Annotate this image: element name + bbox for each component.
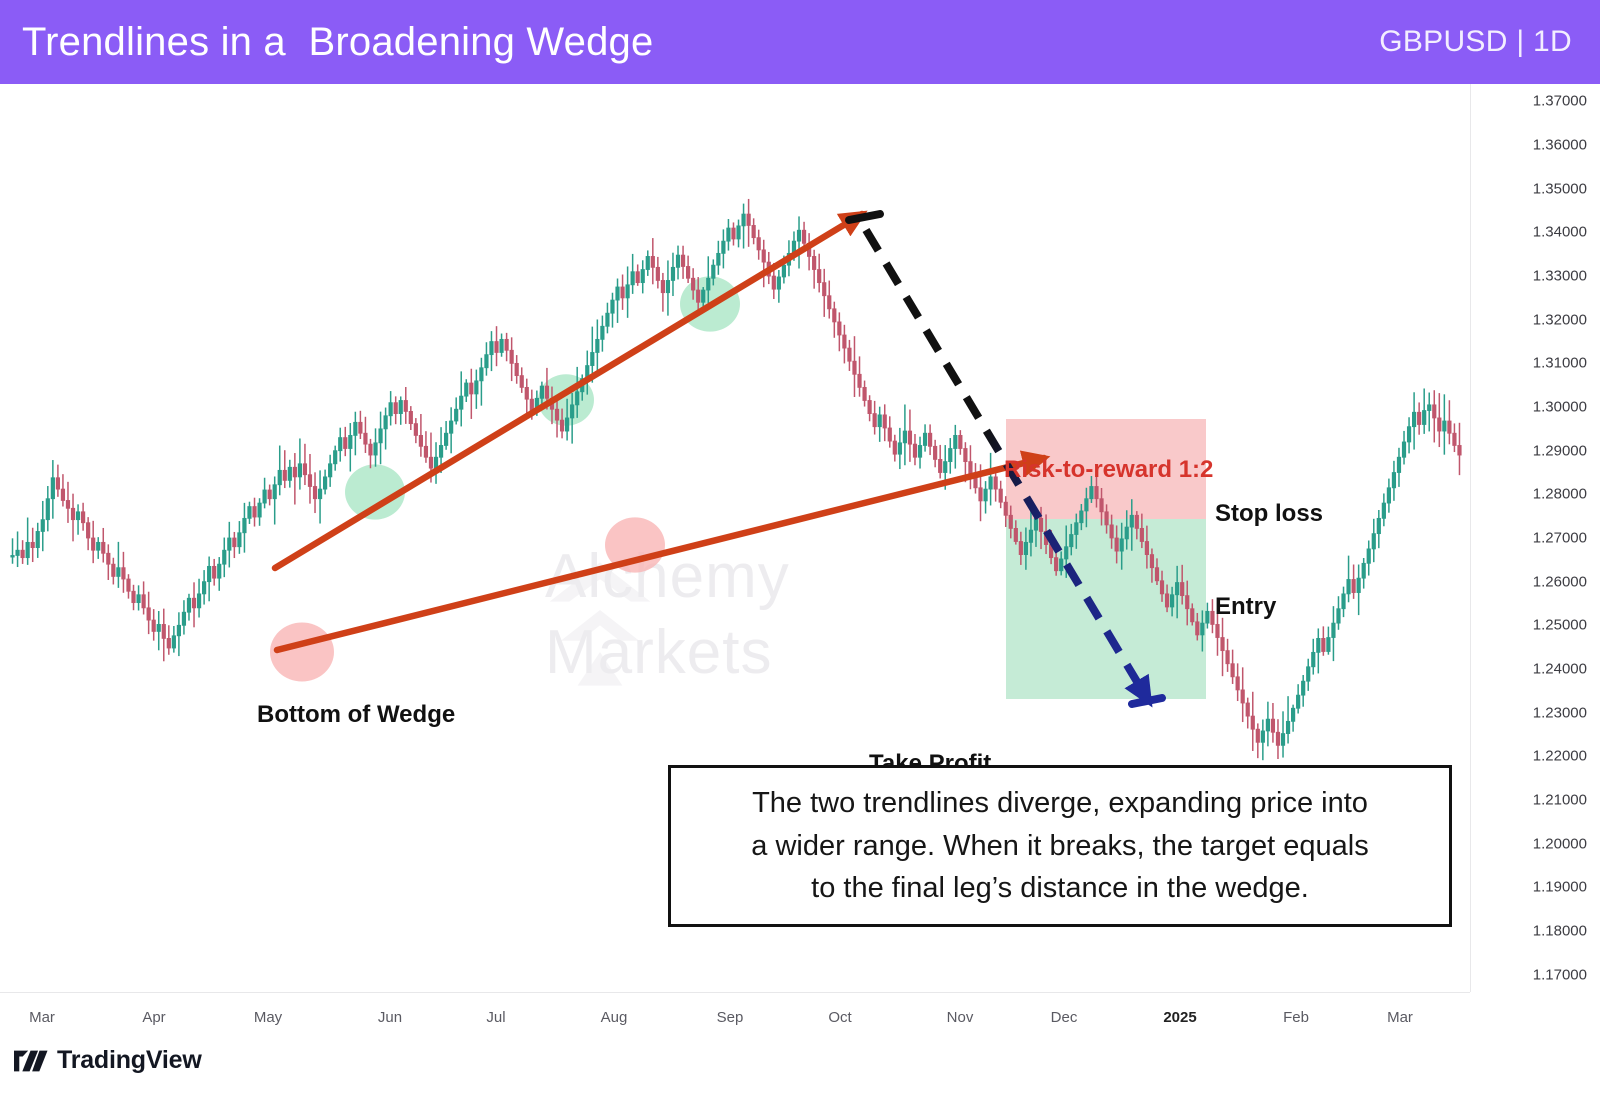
candle-body [591, 352, 594, 365]
candle-body [253, 507, 256, 517]
candle-body [318, 489, 321, 499]
candle-body [429, 457, 432, 468]
chart-header-bar: Trendlines in a Broadening Wedge GBPUSD … [0, 0, 1600, 84]
time-tick-label: Nov [947, 1009, 974, 1026]
candle-body [1251, 716, 1254, 729]
candle-body [631, 272, 634, 285]
candle-body [651, 256, 654, 267]
price-tick-label: 1.28000 [1533, 486, 1587, 503]
candle-body [182, 612, 185, 625]
candle-body [278, 470, 281, 484]
candle-body [1135, 515, 1138, 528]
candle-body [490, 342, 493, 355]
candle-body [202, 582, 205, 594]
candle-body [26, 542, 29, 557]
candle-body [1387, 488, 1390, 503]
candle-body [97, 542, 100, 550]
candle-body [1029, 530, 1032, 542]
candle-body [238, 533, 241, 547]
candle-body [1120, 539, 1123, 551]
candle-body [1402, 442, 1405, 457]
candle-body [596, 339, 599, 352]
candle-body [86, 523, 89, 538]
price-tick-label: 1.24000 [1533, 660, 1587, 677]
price-tick-label: 1.30000 [1533, 399, 1587, 416]
price-tick-label: 1.37000 [1533, 93, 1587, 110]
candle-body [465, 383, 468, 396]
price-tick-label: 1.26000 [1533, 573, 1587, 590]
candle-body [1453, 433, 1456, 445]
candle-body [339, 438, 342, 451]
price-axis[interactable]: 1.370001.360001.350001.340001.330001.320… [1470, 84, 1600, 992]
candle-body [1291, 708, 1294, 721]
candle-body [1271, 719, 1274, 732]
candle-body [228, 538, 231, 550]
candle-body [1438, 418, 1441, 431]
candle-body [1206, 611, 1209, 623]
candle-body [646, 256, 649, 269]
price-tick-label: 1.23000 [1533, 704, 1587, 721]
candle-body [1070, 535, 1073, 547]
candle-body [81, 512, 84, 523]
candle-body [626, 285, 629, 298]
risk-reward-label: Risk-to-reward 1:2 [1004, 458, 1213, 482]
candle-body [676, 255, 679, 267]
candle-body [823, 283, 826, 296]
candle-body [218, 564, 221, 578]
screenshot-root: Trendlines in a Broadening Wedge GBPUSD … [0, 0, 1600, 1095]
candle-body [858, 374, 861, 387]
candle-body [1186, 596, 1189, 609]
note-line-3: to the final leg’s distance in the wedge… [811, 867, 1309, 910]
time-tick-label: Mar [29, 1009, 55, 1026]
candle-body [187, 598, 190, 612]
candle-body [263, 490, 266, 503]
candle-body [152, 620, 155, 631]
candle-body [853, 361, 856, 374]
candle-body [1165, 594, 1168, 607]
candle-body [1085, 499, 1088, 511]
candle-body [944, 462, 947, 473]
candle-body [470, 383, 473, 394]
candle-body [16, 550, 19, 555]
time-tick-label: Mar [1387, 1009, 1413, 1026]
candle-body [1236, 677, 1239, 690]
candle-body [601, 326, 604, 339]
candle-body [1261, 731, 1264, 742]
candle-body [76, 512, 79, 520]
candle-body [1372, 534, 1375, 549]
candle-body [999, 489, 1002, 502]
candle-body [1019, 541, 1022, 554]
candle-body [570, 405, 573, 418]
candle-body [157, 624, 160, 631]
candle-body [923, 433, 926, 445]
upper-trendline [275, 214, 862, 568]
candle-body [611, 300, 614, 313]
candle-body [1201, 623, 1204, 635]
candle-body [903, 431, 906, 443]
time-tick-label: Jul [486, 1009, 505, 1026]
candle-body [1246, 703, 1249, 716]
price-tick-label: 1.31000 [1533, 355, 1587, 372]
candle-body [1105, 512, 1108, 525]
candle-body [1407, 427, 1410, 442]
candle-body [984, 489, 987, 501]
candle-body [1125, 527, 1128, 539]
candle-body [1150, 555, 1153, 568]
candle-body [424, 446, 427, 457]
candle-body [1377, 518, 1380, 533]
candle-body [696, 290, 699, 302]
candle-body [1191, 609, 1194, 622]
candle-body [56, 478, 59, 489]
time-tick-label: May [254, 1009, 282, 1026]
candle-body [454, 409, 457, 421]
candle-body [379, 429, 382, 443]
candle-body [1392, 473, 1395, 488]
candle-body [661, 280, 664, 292]
candle-body [273, 485, 276, 499]
candle-body [737, 226, 740, 239]
candle-body [1367, 549, 1370, 563]
candle-body [938, 459, 941, 472]
candle-body [344, 438, 347, 449]
stop-loss-label: Stop loss [1215, 502, 1323, 526]
candle-body [606, 313, 609, 326]
candle-body [1196, 622, 1199, 635]
candle-body [1065, 547, 1068, 559]
candle-body [1221, 638, 1224, 651]
candle-body [444, 433, 447, 445]
candle-body [1145, 541, 1148, 554]
candle-body [328, 464, 331, 477]
candle-body [515, 363, 518, 375]
time-tick-label: Oct [828, 1009, 851, 1026]
candle-body [197, 594, 200, 608]
candle-body [1216, 624, 1219, 637]
candle-body [510, 350, 513, 363]
candle-body [1357, 578, 1360, 592]
candle-body [1110, 525, 1113, 538]
candle-body [1352, 579, 1355, 592]
candle-body [313, 486, 316, 498]
candle-body [797, 230, 800, 241]
time-tick-label: Feb [1283, 1009, 1309, 1026]
candle-body [777, 277, 780, 289]
candle-body [1312, 652, 1315, 666]
candle-body [21, 550, 24, 557]
candle-body [812, 256, 815, 269]
candle-body [772, 276, 775, 289]
candle-body [1412, 412, 1415, 426]
candle-body [258, 503, 261, 517]
candle-body [762, 250, 765, 262]
time-tick-label: 2025 [1163, 1009, 1196, 1026]
candle-body [969, 462, 972, 475]
candle-body [994, 477, 997, 489]
candle-body [525, 387, 528, 399]
candle-body [268, 490, 271, 499]
candle-body [1059, 559, 1062, 571]
candle-body [1256, 729, 1259, 742]
candle-body [555, 409, 558, 420]
candle-body [66, 500, 69, 508]
candle-body [888, 428, 891, 441]
candle-body [1417, 412, 1420, 424]
candle-body [384, 416, 387, 429]
candle-body [1286, 721, 1289, 733]
candle-body [399, 400, 402, 413]
candle-body [747, 214, 750, 225]
candle-body [51, 478, 54, 499]
candle-body [1382, 503, 1385, 518]
candle-body [656, 267, 659, 280]
candle-body [142, 595, 145, 608]
candle-body [913, 444, 916, 457]
price-tick-label: 1.17000 [1533, 966, 1587, 983]
price-tick-label: 1.32000 [1533, 311, 1587, 328]
candle-body [207, 566, 210, 581]
candle-body [36, 531, 39, 547]
candle-body [989, 477, 992, 489]
candle-body [1004, 502, 1007, 515]
candle-body [838, 322, 841, 335]
candle-body [1342, 594, 1345, 609]
candle-body [616, 287, 619, 300]
candle-body [949, 449, 952, 462]
candle-body [409, 411, 412, 423]
candle-body [681, 255, 684, 266]
candle-body [41, 520, 44, 532]
candle-body [712, 265, 715, 278]
candle-body [863, 387, 866, 400]
candle-body [722, 241, 725, 253]
candle-body [303, 464, 306, 475]
candle-body [354, 422, 357, 435]
candle-body [1231, 664, 1234, 677]
candle-body [112, 564, 115, 576]
candle-body [1281, 734, 1284, 746]
candle-body [117, 568, 120, 577]
price-tick-label: 1.36000 [1533, 137, 1587, 154]
candle-body [1160, 581, 1163, 594]
candle-body [843, 335, 846, 348]
candle-body [964, 449, 967, 462]
candle-body [893, 441, 896, 454]
candle-body [500, 339, 503, 352]
candle-body [1054, 558, 1057, 571]
candle-body [1322, 638, 1325, 651]
candle-body [742, 214, 745, 226]
candle-body [802, 230, 805, 243]
candle-body [817, 270, 820, 283]
candle-body [898, 443, 901, 454]
candle-body [137, 595, 140, 603]
candle-body [918, 445, 921, 457]
time-tick-label: Sep [717, 1009, 744, 1026]
candle-body [1443, 421, 1446, 431]
price-tick-label: 1.35000 [1533, 180, 1587, 197]
candle-body [308, 475, 311, 487]
candle-body [212, 566, 215, 578]
candle-body [439, 445, 442, 457]
candle-body [1241, 690, 1244, 703]
page-title: Trendlines in a Broadening Wedge [22, 22, 653, 62]
candle-body [540, 386, 543, 398]
candle-body [107, 553, 110, 564]
candle-body [288, 467, 291, 480]
candle-body [727, 228, 730, 241]
candle-body [848, 348, 851, 361]
candle-body [1307, 667, 1310, 681]
candle-body [298, 464, 301, 477]
candle-body [333, 451, 336, 464]
candle-body [565, 418, 568, 431]
candle-body [1433, 405, 1436, 418]
candle-body [1332, 623, 1335, 637]
candle-body [671, 267, 674, 280]
candle-body [1458, 445, 1461, 455]
candle-body [1211, 611, 1214, 624]
candle-body [122, 568, 125, 579]
candle-body [1014, 528, 1017, 541]
candle-body [1276, 732, 1279, 745]
candle-body [1009, 515, 1012, 528]
candle-body [868, 400, 871, 413]
candle-body [1039, 518, 1042, 531]
candle-body [1428, 405, 1431, 411]
candle-body [979, 488, 982, 501]
candle-body [495, 342, 498, 353]
candle-body [717, 253, 720, 265]
candle-body [46, 499, 49, 520]
candle-body [621, 287, 624, 298]
candle-body [147, 608, 150, 620]
candle-body [364, 433, 367, 444]
candle-body [132, 591, 135, 602]
time-tick-label: Jun [378, 1009, 402, 1026]
explanation-note-box: The two trendlines diverge, expanding pr… [668, 765, 1452, 927]
candle-body [177, 625, 180, 635]
candle-body [782, 265, 785, 277]
candle-body [283, 470, 286, 480]
time-axis[interactable]: MarAprMayJunJulAugSepOctNovDec2025FebMar [0, 992, 1470, 1041]
candle-body [1317, 638, 1320, 652]
candle-body [702, 290, 705, 302]
candle-body [11, 555, 14, 557]
candle-body [323, 477, 326, 489]
candle-body [1175, 583, 1178, 595]
candle-body [167, 638, 170, 648]
candle-body [954, 435, 957, 448]
tradingview-attribution: TradingView [14, 1048, 202, 1073]
candle-body [560, 420, 563, 431]
candle-body [127, 579, 130, 591]
candle-body [449, 421, 452, 433]
price-tick-label: 1.21000 [1533, 791, 1587, 808]
candle-body [233, 538, 236, 547]
candle-body [414, 424, 417, 436]
candle-body [91, 538, 94, 550]
candle-body [1115, 538, 1118, 551]
candle-body [691, 278, 694, 290]
candle-body [1296, 695, 1299, 708]
candle-body [1100, 499, 1103, 512]
price-tick-label: 1.27000 [1533, 530, 1587, 547]
candle-body [636, 272, 639, 283]
candle-body [394, 403, 397, 414]
candle-body [883, 415, 886, 428]
candle-body [1226, 651, 1229, 664]
candle-body [520, 376, 523, 388]
candle-body [641, 270, 644, 283]
candle-body [1034, 518, 1037, 530]
candle-body [1301, 681, 1304, 695]
candle-body [1140, 528, 1143, 541]
symbol-timeframe-label: GBPUSD | 1D [1379, 27, 1572, 57]
candle-body [162, 624, 165, 638]
candle-body [1090, 486, 1093, 498]
price-tick-label: 1.34000 [1533, 224, 1587, 241]
candle-body [485, 355, 488, 368]
candle-body [575, 392, 578, 405]
candle-body [71, 508, 74, 519]
candle-body [1347, 579, 1350, 593]
candle-body [1095, 486, 1098, 498]
candle-body [1180, 583, 1183, 596]
candle-body [102, 542, 105, 553]
candle-body [1130, 515, 1133, 527]
candle-body [223, 550, 226, 564]
candle-body [1024, 542, 1027, 554]
candle-body [460, 396, 463, 409]
entry-label: Entry [1215, 595, 1276, 619]
candle-body [359, 422, 362, 433]
candle-body [389, 403, 392, 416]
price-tick-label: 1.22000 [1533, 748, 1587, 765]
price-tick-label: 1.33000 [1533, 268, 1587, 285]
candle-body [1422, 411, 1425, 425]
candle-body [61, 489, 64, 500]
candle-body [248, 507, 251, 519]
time-tick-label: Apr [142, 1009, 165, 1026]
price-tick-label: 1.18000 [1533, 922, 1587, 939]
candle-body [1448, 421, 1451, 433]
candle-body [928, 433, 931, 446]
candle-body [1362, 563, 1365, 578]
candle-body [666, 280, 669, 292]
candle-body [1266, 719, 1269, 731]
candle-body [31, 542, 34, 547]
candle-body [686, 266, 689, 278]
price-tick-label: 1.29000 [1533, 442, 1587, 459]
candle-body [1075, 523, 1078, 535]
candle-body [374, 443, 377, 455]
candle-body [833, 309, 836, 322]
tradingview-logo-icon [14, 1050, 48, 1072]
price-tick-label: 1.25000 [1533, 617, 1587, 634]
candle-body [192, 598, 195, 608]
candle-body [873, 414, 876, 427]
candle-body [757, 238, 760, 250]
candle-body [752, 225, 755, 237]
candle-body [1327, 638, 1330, 652]
candle-body [404, 400, 407, 411]
candle-body [707, 278, 710, 290]
measure-start-cap [849, 214, 880, 220]
candle-body [828, 296, 831, 309]
